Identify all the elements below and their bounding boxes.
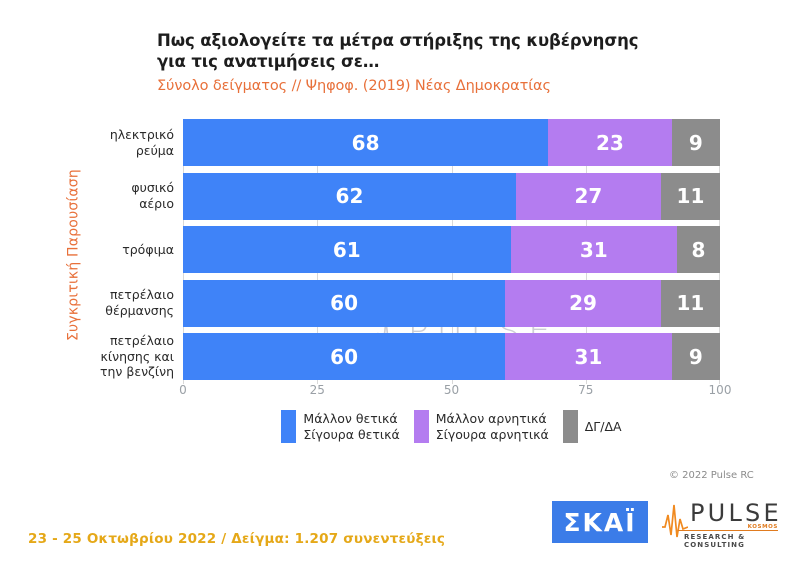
page-title-line-1: Πως αξιολογείτε τα μέτρα στήριξης της κυ… [157, 30, 677, 51]
plot-area: PULSE RESEARCH & CONSULTING 682396227116… [183, 119, 720, 380]
category-label: ηλεκτρικόρεύμα [60, 127, 174, 158]
pulse-logo: PULSE KOSMOS RESEARCH & CONSULTING [662, 499, 780, 545]
pulse-logo-word: PULSE [690, 501, 782, 525]
bar-segment[interactable]: 11 [661, 173, 720, 220]
legend-swatch [414, 410, 429, 443]
bar-segment[interactable]: 29 [505, 280, 661, 327]
bar-value-label: 27 [575, 184, 603, 208]
bar-value-label: 29 [569, 291, 597, 315]
category-label: πετρέλαιοκίνησης καιτην βενζίνη [60, 333, 174, 380]
bar-value-label: 68 [352, 131, 380, 155]
skai-logo: ΣΚΑΪ [552, 501, 648, 543]
category-label: φυσικόαέριο [60, 180, 174, 211]
page-subtitle: Σύνολο δείγματος // Ψηφοφ. (2019) Νέας Δ… [157, 77, 677, 95]
bar-row[interactable]: 60319 [183, 333, 720, 380]
bar-row[interactable]: 602911 [183, 280, 720, 327]
bar-segment[interactable]: 61 [183, 226, 511, 273]
legend-item[interactable]: Μάλλον αρνητικά Σίγουρα αρνητικά [414, 410, 549, 443]
bar-value-label: 9 [689, 345, 703, 369]
footer-date-sample: 23 - 25 Οκτωβρίου 2022 / Δείγμα: 1.207 σ… [28, 531, 445, 547]
bar-segment[interactable]: 31 [511, 226, 677, 273]
bar-segment[interactable]: 9 [672, 119, 720, 166]
bar-segment[interactable]: 68 [183, 119, 548, 166]
x-axis-tick-label: 50 [444, 383, 459, 397]
bar-value-label: 60 [330, 291, 358, 315]
bar-value-label: 31 [575, 345, 603, 369]
bar-segment[interactable]: 62 [183, 173, 516, 220]
bar-value-label: 11 [677, 184, 705, 208]
legend-item[interactable]: Μάλλον θετικά Σίγουρα θετικά [281, 410, 399, 443]
bar-segment[interactable]: 23 [548, 119, 672, 166]
x-axis-tick-label: 75 [578, 383, 593, 397]
x-axis: 0255075100 [183, 383, 720, 401]
logo-group: ΣΚΑΪ PULSE KOSMOS RESEARCH & CONSULTING [552, 499, 780, 545]
bar-segment[interactable]: 27 [516, 173, 661, 220]
legend-swatch [563, 410, 578, 443]
bar-value-label: 31 [580, 238, 608, 262]
category-label: τρόφιμα [60, 242, 174, 258]
page-title-line-2: για τις ανατιμήσεις σε… [157, 51, 677, 72]
legend-label: Μάλλον αρνητικά Σίγουρα αρνητικά [436, 411, 549, 443]
legend-label: ΔΓ/ΔΑ [585, 419, 622, 435]
bar-segment[interactable]: 60 [183, 280, 505, 327]
bar-value-label: 60 [330, 345, 358, 369]
pulse-logo-subtitle: RESEARCH & CONSULTING [684, 533, 780, 549]
bar-value-label: 11 [677, 291, 705, 315]
bar-value-label: 9 [689, 131, 703, 155]
bar-segment[interactable]: 31 [505, 333, 671, 380]
bar-segment[interactable]: 60 [183, 333, 505, 380]
x-axis-tick-label: 25 [310, 383, 325, 397]
bar-segment[interactable]: 8 [677, 226, 720, 273]
x-axis-tick-label: 100 [709, 383, 732, 397]
legend: Μάλλον θετικά Σίγουρα θετικάΜάλλον αρνητ… [183, 410, 720, 443]
bar-value-label: 23 [596, 131, 624, 155]
bar-row[interactable]: 622711 [183, 173, 720, 220]
legend-item[interactable]: ΔΓ/ΔΑ [563, 410, 622, 443]
copyright-text: © 2022 Pulse RC [669, 470, 754, 481]
bar-value-label: 62 [336, 184, 364, 208]
pulse-logo-rule [678, 530, 778, 531]
bar-value-label: 8 [692, 238, 706, 262]
x-axis-tick-label: 0 [179, 383, 187, 397]
bar-row[interactable]: 68239 [183, 119, 720, 166]
legend-swatch [281, 410, 296, 443]
bar-segment[interactable]: 11 [661, 280, 720, 327]
category-label: πετρέλαιοθέρμανσης [60, 287, 174, 318]
bar-value-label: 61 [333, 238, 361, 262]
bar-row[interactable]: 61318 [183, 226, 720, 273]
title-block: Πως αξιολογείτε τα μέτρα στήριξης της κυ… [157, 30, 677, 95]
legend-label: Μάλλον θετικά Σίγουρα θετικά [303, 411, 399, 443]
bar-segment[interactable]: 9 [672, 333, 720, 380]
page-title: Πως αξιολογείτε τα μέτρα στήριξης της κυ… [157, 30, 677, 73]
bar-rows: 682396227116131860291160319 [183, 119, 720, 380]
category-axis-labels: ηλεκτρικόρεύμαφυσικόαέριοτρόφιμαπετρέλαι… [60, 119, 174, 380]
poll-chart-page: Πως αξιολογείτε τα μέτρα στήριξης της κυ… [0, 0, 795, 562]
